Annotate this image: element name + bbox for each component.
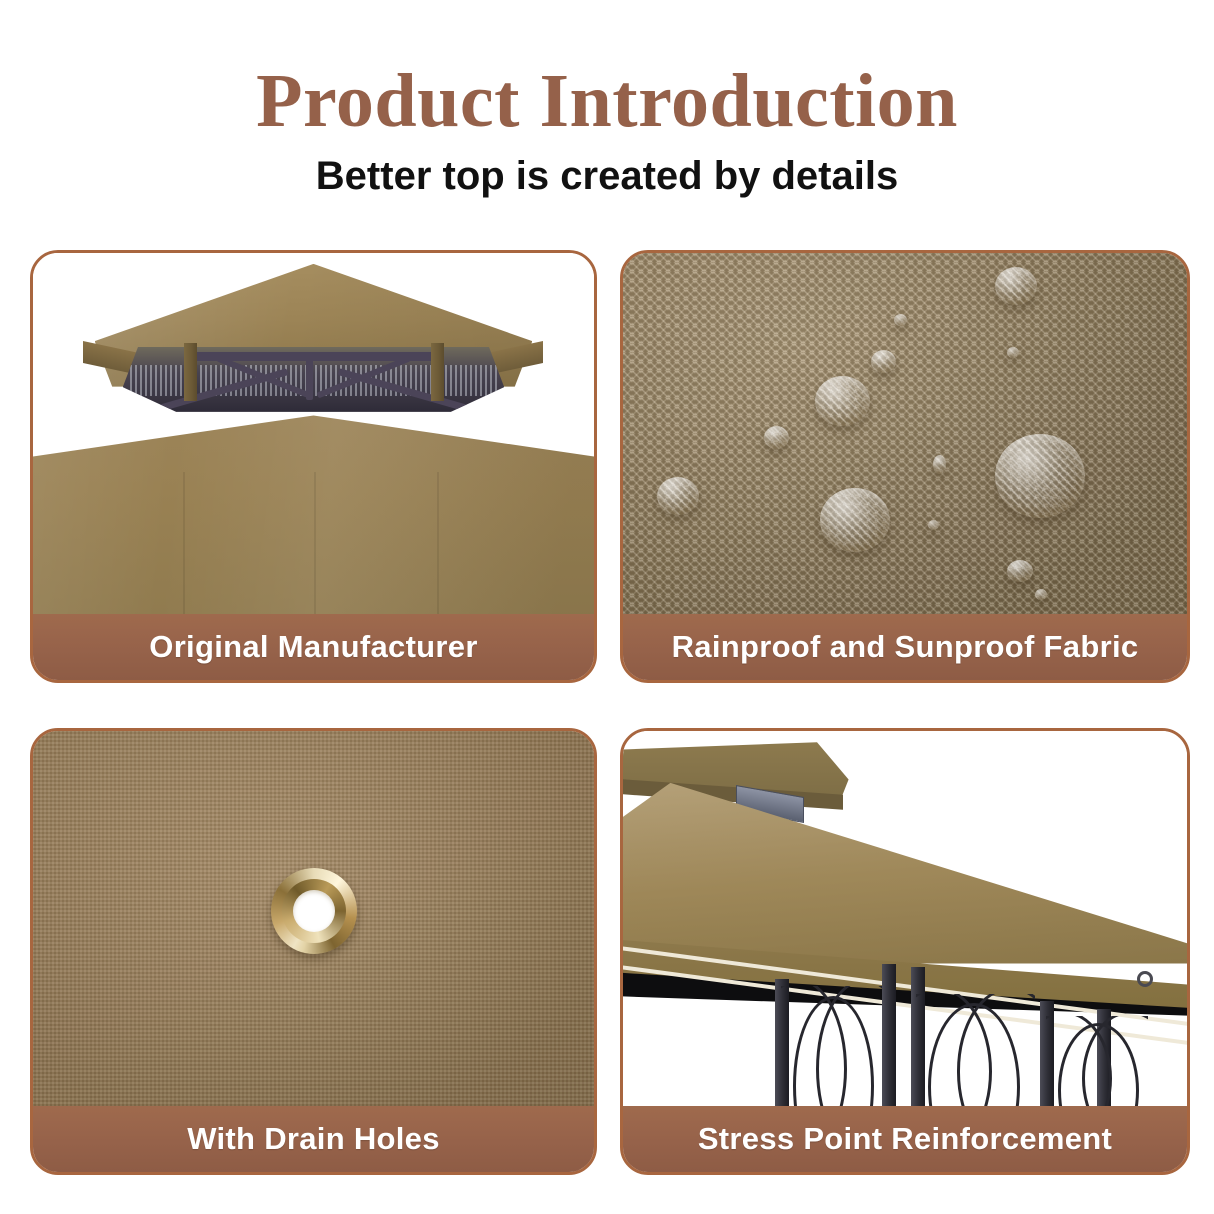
water-droplet [995, 434, 1085, 518]
feature-card-rainproof-sunproof-fabric: Rainproof and Sunproof Fabric [620, 250, 1190, 683]
water-droplet [657, 477, 699, 515]
fabric-crease [314, 472, 316, 614]
page-title: Product Introduction [0, 58, 1214, 144]
card-caption: Original Manufacturer [33, 614, 594, 680]
card-caption: Rainproof and Sunproof Fabric [623, 614, 1187, 680]
feature-card-stress-point-reinforcement: Stress Point Reinforcement [620, 728, 1190, 1175]
fabric-shading [623, 253, 1187, 614]
water-droplet [815, 376, 870, 426]
feature-card-with-drain-holes: With Drain Holes [30, 728, 597, 1175]
fabric-crease [183, 472, 185, 614]
decorative-arch-panel [781, 986, 883, 1106]
page-subtitle: Better top is created by details [0, 152, 1214, 200]
gazebo-vent-opening [123, 347, 504, 412]
product-introduction-page: Product Introduction Better top is creat… [0, 0, 1214, 1214]
gazebo-post [184, 343, 197, 401]
gazebo-side-view-posts-photo [623, 731, 1187, 1106]
fabric-metal-grommet-drain-hole-photo [33, 731, 594, 1106]
drain-hole-grommet [271, 868, 357, 954]
gazebo-post [882, 964, 896, 1107]
decorative-arch-panel [1046, 1016, 1148, 1106]
feature-card-grid: Original Manufacturer Rainpr [30, 250, 1190, 1175]
grommet-hole [293, 890, 335, 932]
water-droplet [1007, 347, 1019, 358]
woven-fabric-water-droplets-photo [623, 253, 1187, 614]
gazebo-post [431, 343, 444, 401]
water-droplet [928, 520, 939, 530]
gazebo-side-scene [623, 731, 1187, 1106]
card-caption: Stress Point Reinforcement [623, 1106, 1187, 1172]
gazebo-canopy-underside-photo [33, 253, 594, 614]
water-droplet [1035, 589, 1047, 600]
gazebo-scene [33, 253, 594, 614]
water-droplet [820, 488, 890, 552]
gazebo-lower-canopy [33, 415, 594, 614]
page-header: Product Introduction Better top is creat… [0, 58, 1214, 200]
decorative-arch-panel [916, 994, 1034, 1107]
fabric-crease [437, 472, 439, 614]
frame-ridge [188, 352, 440, 361]
feature-card-original-manufacturer: Original Manufacturer [30, 250, 597, 683]
frame-centre-post [306, 359, 313, 401]
card-caption: With Drain Holes [33, 1106, 594, 1172]
water-droplet [1007, 560, 1033, 582]
